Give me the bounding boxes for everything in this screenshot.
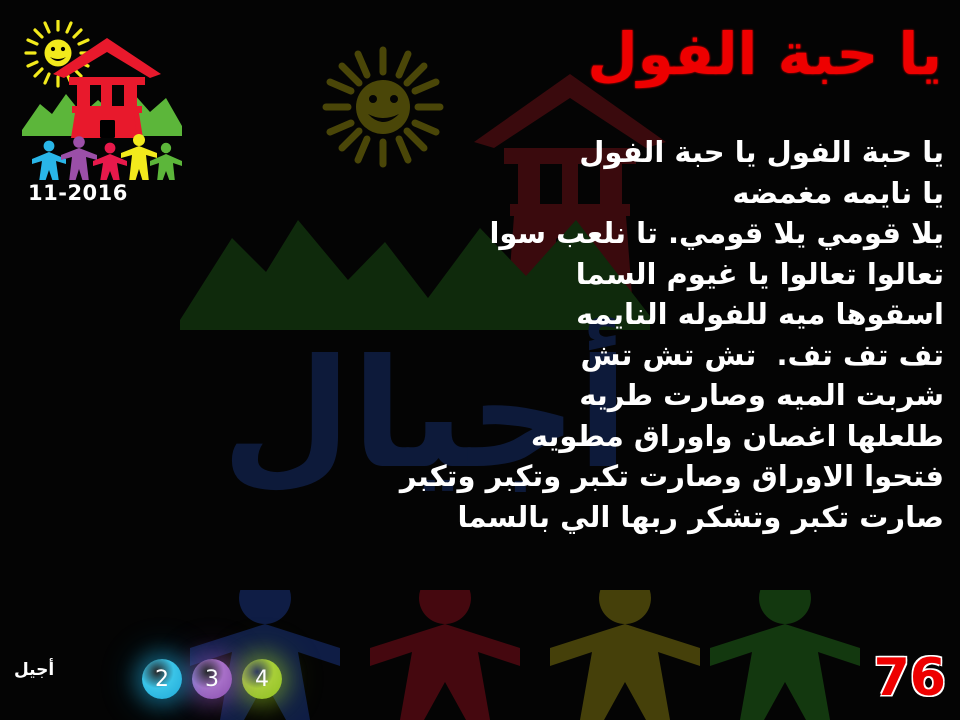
lyric-line: يلا قومي يلا قومي. تا نلعب سوا: [244, 213, 944, 254]
lyric-line: شربت الميه وصارت طريه: [244, 375, 944, 416]
level-badge-3[interactable]: 3: [192, 659, 232, 699]
lyric-line: يا حبة الفول يا حبة الفول: [244, 132, 944, 173]
page-number: 76: [874, 648, 946, 708]
lyric-line: صارت تكبر وتشكر ربها الي بالسما: [244, 497, 944, 538]
lyric-line: تف تف تف. تش تش تش: [244, 335, 944, 376]
level-badges: 4 3 2: [142, 659, 282, 699]
slide-canvas: أجيال: [0, 0, 960, 720]
lyrics-block: يا حبة الفول يا حبة الفول يا نايمه مغمضه…: [244, 132, 944, 537]
lyric-line: اسقوها ميه للفوله النايمه: [244, 294, 944, 335]
logo-tower-door: [100, 120, 115, 138]
organization-logo: [22, 20, 182, 180]
page-title: يا حبة الفول: [322, 18, 942, 90]
logo-date: 11-2016: [28, 181, 168, 205]
lyric-line: تعالوا تعالوا يا غيوم السما: [244, 254, 944, 295]
logo-sun-icon: [26, 21, 90, 86]
watermark-people-icon: [180, 590, 880, 720]
logo-people-icon: [32, 134, 182, 180]
lyric-line: طلعلها اغصان واوراق مطويه: [244, 416, 944, 457]
level-badge-2[interactable]: 2: [142, 659, 182, 699]
lyric-line: يا نايمه مغمضه: [244, 173, 944, 214]
level-badge-4[interactable]: 4: [242, 659, 282, 699]
footer-brand-label: أجيل: [14, 660, 54, 680]
lyric-line: فتحوا الاوراق وصارت تكبر وتكبر وتكبر: [244, 456, 944, 497]
